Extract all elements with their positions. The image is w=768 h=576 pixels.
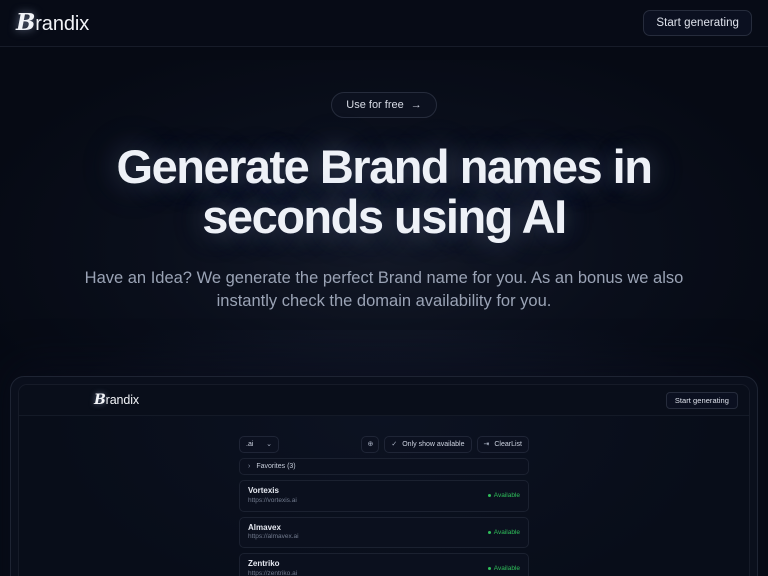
brand-logo[interactable]: B randix [16, 11, 89, 36]
result-url: https://vortexis.ai [248, 497, 297, 506]
result-row-info: Zentriko https://zentriko.ai [248, 559, 297, 576]
preview-brand-logo[interactable]: B randix [94, 393, 139, 407]
favorites-section-header[interactable]: › Favorites (3) [239, 458, 529, 475]
clear-list-button[interactable]: ⇥ ClearList [477, 436, 530, 453]
arrow-right-icon: → [411, 100, 422, 111]
brand-logo-initial-icon: B [16, 11, 35, 34]
status-dot-icon [488, 531, 491, 534]
result-row[interactable]: Zentriko https://zentriko.ai Available [239, 553, 529, 576]
app-preview-frame: B randix Start generating .ai ⌄ ⊕ [10, 376, 758, 576]
only-show-available-toggle[interactable]: ✓ Only show available [384, 436, 471, 453]
result-row-info: Vortexis https://vortexis.ai [248, 486, 297, 506]
hero-section: Use for free → Generate Brand names in s… [0, 47, 768, 314]
clear-list-label: ClearList [494, 441, 522, 448]
tld-select[interactable]: .ai ⌄ [239, 436, 279, 453]
status-badge: Available [488, 492, 520, 499]
chevron-right-icon: › [248, 463, 250, 470]
result-url: https://zentriko.ai [248, 570, 297, 576]
top-navigation-bar: B randix Start generating [0, 0, 768, 47]
favorites-label: Favorites (3) [256, 463, 295, 470]
chevron-down-icon: ⌄ [266, 441, 272, 448]
use-for-free-label: Use for free [346, 99, 403, 111]
brand-generator-app: .ai ⌄ ⊕ ✓ Only show available ⇥ [239, 436, 529, 576]
preview-brand-logo-text: randix [106, 393, 139, 407]
brand-logo-text: randix [35, 13, 89, 36]
results-toolbar: .ai ⌄ ⊕ ✓ Only show available ⇥ [239, 436, 529, 453]
headline-line-1: Generate Brand names in [0, 142, 768, 192]
preview-top-navigation-bar: B randix Start generating [19, 385, 749, 416]
result-url: https://almavex.ai [248, 533, 299, 542]
page-title: Generate Brand names in seconds using AI [0, 142, 768, 243]
result-name: Zentriko [248, 559, 297, 570]
only-show-available-label: Only show available [402, 441, 464, 448]
status-badge: Available [488, 529, 520, 536]
result-row-info: Almavex https://almavex.ai [248, 523, 299, 543]
page-subtitle: Have an Idea? We generate the perfect Br… [74, 267, 694, 315]
status-dot-icon [488, 494, 491, 497]
status-dot-icon [488, 567, 491, 570]
tld-select-value: .ai [246, 441, 253, 448]
clear-list-icon: ⇥ [484, 441, 490, 448]
headline-line-2: seconds using AI [0, 192, 768, 242]
status-badge: Available [488, 565, 520, 572]
result-row[interactable]: Almavex https://almavex.ai Available [239, 517, 529, 549]
check-icon: ✓ [391, 441, 397, 448]
subtitle-line-1: Have an Idea? We generate the perfect Br… [85, 269, 574, 287]
preview-content-area: .ai ⌄ ⊕ ✓ Only show available ⇥ [19, 416, 749, 576]
toolbar-actions: ⊕ ✓ Only show available ⇥ ClearList [361, 436, 529, 453]
preview-brand-logo-initial-icon: B [94, 393, 106, 407]
status-label: Available [494, 492, 520, 499]
preview-start-generating-button[interactable]: Start generating [666, 392, 738, 409]
globe-icon: ⊕ [367, 441, 373, 448]
start-generating-button[interactable]: Start generating [643, 10, 752, 36]
globe-check-button[interactable]: ⊕ [361, 436, 379, 453]
app-preview-window: B randix Start generating .ai ⌄ ⊕ [18, 384, 750, 576]
result-row[interactable]: Vortexis https://vortexis.ai Available [239, 480, 529, 512]
result-name: Almavex [248, 523, 299, 534]
use-for-free-badge[interactable]: Use for free → [331, 92, 436, 118]
status-label: Available [494, 529, 520, 536]
status-label: Available [494, 565, 520, 572]
result-name: Vortexis [248, 486, 297, 497]
